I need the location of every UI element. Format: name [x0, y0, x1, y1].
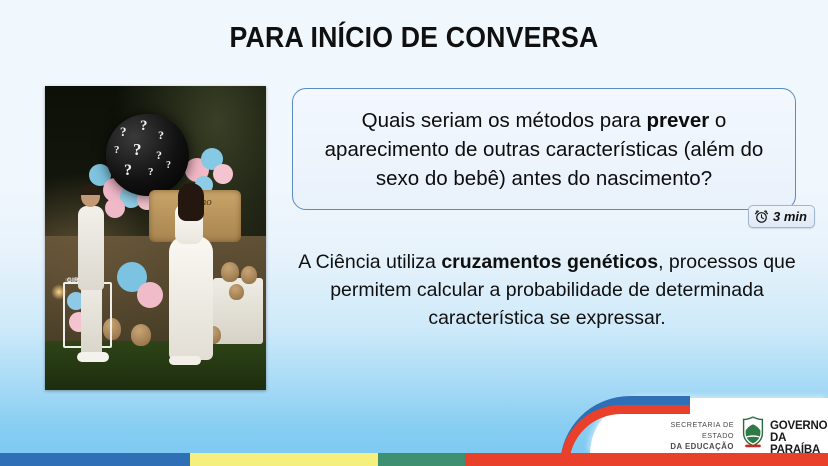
- photo-woman-shoe: [169, 356, 201, 365]
- photo-balloon: [213, 164, 233, 184]
- photo-teddy-bear: [131, 324, 151, 346]
- photo-teddy-bear: [241, 266, 257, 284]
- photo-balloon: [137, 282, 163, 308]
- photo-grass: [45, 341, 266, 390]
- question-mark-icon: ?: [158, 128, 164, 143]
- governo-logo-text: GOVERNO DA PARAÍBA: [770, 420, 828, 456]
- slide-canvas: PARA INÍCIO DE CONVERSA ? ? ? ? ? ? ? ? …: [0, 0, 828, 466]
- question-mark-icon: ?: [124, 162, 132, 180]
- bottom-color-bar: [0, 453, 828, 466]
- photo-lamp-glow: [51, 284, 67, 300]
- photo-woman-dress: [169, 236, 213, 360]
- photo-woman-hair: [178, 183, 204, 221]
- page-title: PARA INÍCIO DE CONVERSA: [33, 22, 795, 55]
- question-mark-icon: ?: [148, 166, 154, 178]
- question-mark-icon: ?: [166, 160, 171, 171]
- photo-teddy-bear: [229, 284, 244, 300]
- secretaria-logo-text: SECRETARIA DE ESTADO DA EDUCAÇÃO: [638, 419, 734, 452]
- photo-man-shoe: [77, 352, 109, 362]
- paraiba-coat-of-arms-icon: [740, 416, 766, 448]
- question-mark-icon: ?: [120, 124, 127, 140]
- governo-line1: GOVERNO: [770, 420, 828, 432]
- question-mark-icon: ?: [140, 118, 148, 135]
- photo-man-body: [78, 206, 104, 290]
- question-text: Quais seriam os métodos para prever o ap…: [304, 106, 784, 193]
- photo-teddy-bear: [221, 262, 239, 282]
- question-mark-icon: ?: [133, 140, 142, 160]
- body-paragraph: A Ciência utiliza cruzamentos genéticos,…: [292, 248, 802, 332]
- timer-badge: 3 min: [748, 205, 815, 228]
- secretaria-line2: DA EDUCAÇÃO: [638, 441, 734, 452]
- question-mark-icon: ?: [114, 144, 120, 156]
- alarm-clock-icon: [754, 209, 769, 224]
- question-callout-box: Quais seriam os métodos para prever o ap…: [292, 88, 796, 210]
- bottom-bar-segment-green: [378, 453, 465, 466]
- timer-label: 3 min: [773, 209, 807, 224]
- photo-man-legs: [81, 282, 102, 358]
- photo-balloon: [105, 198, 125, 218]
- secretaria-line1: SECRETARIA DE ESTADO: [638, 419, 734, 441]
- photo-question-balloon: ? ? ? ? ? ? ? ? ?: [106, 114, 189, 196]
- bottom-bar-segment-red: [465, 453, 828, 466]
- bottom-bar-segment-blue: [0, 453, 190, 466]
- gender-reveal-photo: ? ? ? ? ? ? ? ? ? Menino ou GIRL: [45, 86, 266, 390]
- question-mark-icon: ?: [156, 148, 162, 163]
- bottom-bar-segment-yellow: [190, 453, 378, 466]
